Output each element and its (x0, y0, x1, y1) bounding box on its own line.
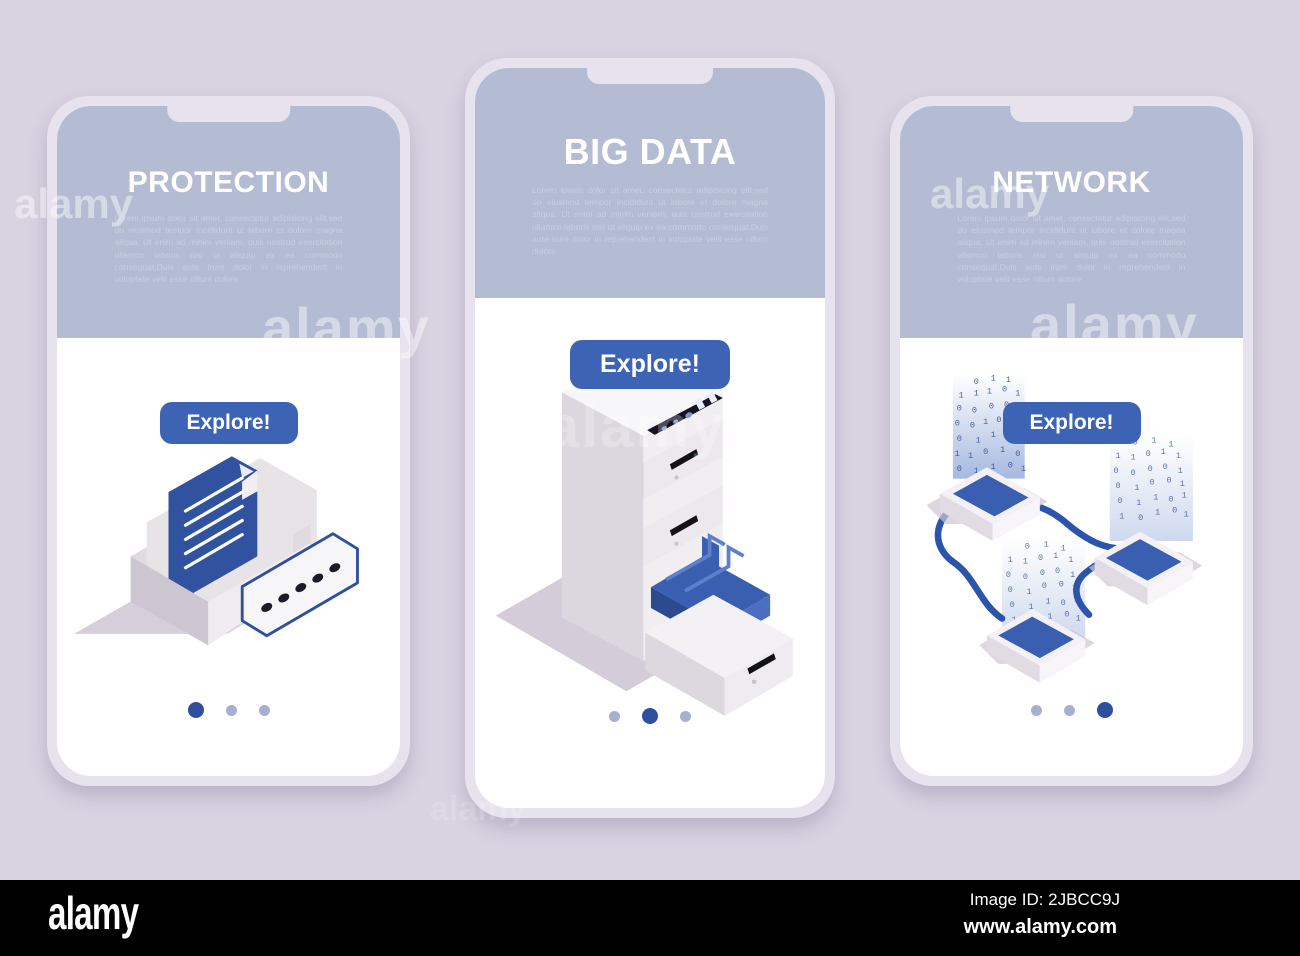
svg-text:0: 0 (1042, 581, 1047, 591)
svg-text:1: 1 (1115, 451, 1120, 461)
pagination-dot-1[interactable] (609, 711, 620, 722)
pagination-dots[interactable] (188, 702, 270, 718)
svg-text:1: 1 (1180, 479, 1185, 489)
svg-text:1: 1 (1134, 483, 1139, 493)
svg-text:0: 0 (974, 377, 979, 387)
svg-text:1: 1 (1027, 587, 1032, 597)
phone-mockup-protection: PROTECTION Lorem ipsum dolor sit amet, c… (47, 96, 410, 786)
phone-mockup-big-data: BIG DATA Lorem ipsum dolor sit amet, con… (465, 58, 835, 818)
svg-text:0: 0 (1172, 506, 1177, 516)
image-id-label: Image ID: 2JBCC9J (970, 890, 1120, 910)
svg-text:0: 0 (970, 421, 975, 431)
pagination-dot-2[interactable] (1064, 705, 1075, 716)
svg-text:1: 1 (1131, 453, 1136, 463)
svg-text:1: 1 (974, 388, 979, 398)
svg-text:1: 1 (1008, 555, 1013, 565)
svg-text:0: 0 (1138, 513, 1143, 523)
body-text: Lorem ipsum dolor sit amet, consectetur … (115, 198, 343, 285)
illustration-filing-cabinet (475, 338, 825, 738)
svg-text:1: 1 (976, 436, 981, 446)
svg-text:1: 1 (1161, 447, 1166, 457)
svg-text:0: 0 (1008, 460, 1013, 470)
svg-text:0: 0 (1006, 570, 1011, 580)
svg-text:0: 0 (1114, 466, 1119, 476)
svg-text:0: 0 (957, 404, 962, 414)
svg-text:0: 0 (1115, 481, 1120, 491)
svg-text:1: 1 (991, 430, 996, 440)
svg-text:0: 0 (1117, 496, 1122, 506)
svg-text:1: 1 (1015, 388, 1020, 398)
svg-text:1: 1 (1070, 570, 1075, 580)
svg-text:1: 1 (1046, 596, 1051, 606)
svg-text:0: 0 (1008, 585, 1013, 595)
alamy-url-label: www.alamy.com (964, 916, 1117, 939)
svg-text:0: 0 (983, 447, 988, 457)
svg-text:1: 1 (1119, 511, 1124, 521)
screen-header-protection: PROTECTION Lorem ipsum dolor sit amet, c… (57, 106, 400, 338)
svg-text:0: 0 (955, 419, 960, 429)
svg-text:1: 1 (1182, 491, 1187, 501)
pagination-dot-1[interactable] (1031, 705, 1042, 716)
explore-button[interactable]: Explore! (1002, 402, 1140, 444)
svg-text:0: 0 (996, 415, 1001, 425)
svg-text:1: 1 (1168, 440, 1173, 450)
svg-text:0: 0 (1059, 579, 1064, 589)
phone-screen-protection: PROTECTION Lorem ipsum dolor sit amet, c… (57, 106, 400, 776)
svg-text:0: 0 (989, 402, 994, 412)
svg-text:1: 1 (1076, 613, 1081, 623)
pagination-dot-3[interactable] (680, 711, 691, 722)
pagination-dots[interactable] (1031, 702, 1113, 718)
svg-text:1: 1 (991, 373, 996, 383)
phone-mockups-stage: PROTECTION Lorem ipsum dolor sit amet, c… (0, 0, 1300, 880)
svg-text:1: 1 (1006, 375, 1011, 385)
svg-text:1: 1 (1176, 451, 1181, 461)
svg-text:0: 0 (1025, 542, 1030, 552)
svg-text:1: 1 (1053, 551, 1058, 561)
phone-mockup-network: NETWORK Lorem ipsum dolor sit amet, cons… (890, 96, 1253, 786)
pagination-dot-2[interactable] (226, 705, 237, 716)
svg-text:1: 1 (1136, 498, 1141, 508)
pagination-dot-2[interactable] (642, 708, 658, 724)
pagination-dots[interactable] (609, 708, 691, 724)
phone-notch (587, 68, 713, 84)
svg-text:0: 0 (1166, 475, 1171, 485)
pagination-dot-3[interactable] (1097, 702, 1113, 718)
svg-text:1: 1 (955, 449, 960, 459)
svg-text:1: 1 (1023, 557, 1028, 567)
pagination-dot-1[interactable] (188, 702, 204, 718)
explore-button[interactable]: Explore! (570, 340, 730, 389)
phone-screen-big-data: BIG DATA Lorem ipsum dolor sit amet, con… (475, 68, 825, 808)
svg-text:0: 0 (1163, 462, 1168, 472)
alamy-logo: alamy (48, 886, 138, 940)
svg-text:1: 1 (959, 390, 964, 400)
body-text: Lorem ipsum dolor sit amet, consectetur … (958, 198, 1186, 285)
svg-text:0: 0 (1146, 449, 1151, 459)
pagination-dot-3[interactable] (259, 705, 270, 716)
svg-text:0: 0 (1064, 610, 1069, 620)
body-text: Lorem ipsum dolor sit amet, consectetur … (532, 170, 768, 257)
svg-text:1: 1 (1044, 540, 1049, 550)
svg-text:0: 0 (1131, 468, 1136, 478)
svg-text:1: 1 (1155, 508, 1160, 518)
screen-header-network: NETWORK Lorem ipsum dolor sit amet, cons… (900, 106, 1243, 338)
phone-notch (1010, 106, 1133, 122)
alamy-watermark-bar: alamy Image ID: 2JBCC9J www.alamy.com (0, 880, 1300, 956)
svg-text:0: 0 (1149, 477, 1154, 487)
svg-text:0: 0 (1055, 566, 1060, 576)
svg-text:0: 0 (1038, 553, 1043, 563)
svg-text:1: 1 (1061, 543, 1066, 553)
svg-text:0: 0 (1010, 600, 1015, 610)
svg-text:0: 0 (1015, 449, 1020, 459)
svg-text:0: 0 (1148, 464, 1153, 474)
svg-text:0: 0 (1002, 385, 1007, 395)
svg-text:0: 0 (1061, 598, 1066, 608)
svg-text:0: 0 (972, 405, 977, 415)
svg-text:0: 0 (1040, 568, 1045, 578)
svg-text:0: 0 (1023, 572, 1028, 582)
svg-text:1: 1 (1153, 492, 1158, 502)
svg-text:1: 1 (1000, 445, 1005, 455)
svg-text:1: 1 (987, 387, 992, 397)
svg-text:1: 1 (1021, 464, 1026, 474)
svg-text:1: 1 (1068, 555, 1073, 565)
phone-notch (167, 106, 290, 122)
svg-text:1: 1 (968, 451, 973, 461)
svg-text:1: 1 (1151, 436, 1156, 446)
svg-text:1: 1 (1183, 509, 1188, 519)
svg-text:1: 1 (983, 417, 988, 427)
svg-text:0: 0 (1168, 494, 1173, 504)
svg-text:1: 1 (1178, 466, 1183, 476)
phone-screen-network: NETWORK Lorem ipsum dolor sit amet, cons… (900, 106, 1243, 776)
explore-button[interactable]: Explore! (159, 402, 297, 444)
svg-text:0: 0 (957, 434, 962, 444)
screen-header-big-data: BIG DATA Lorem ipsum dolor sit amet, con… (475, 68, 825, 298)
